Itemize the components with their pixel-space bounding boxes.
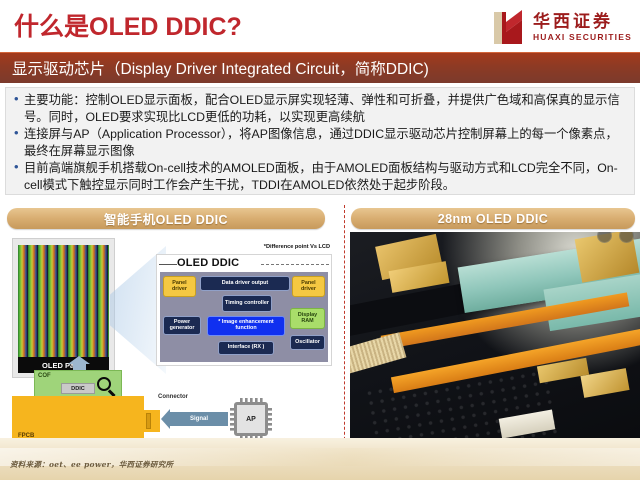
- photo-control-buttons[interactable]: [597, 232, 634, 243]
- signal-arrow: Signal: [170, 412, 228, 426]
- source-note: 资料来源：oet、ee power，华西证券研究所: [10, 459, 173, 470]
- bullet-list: 主要功能：控制OLED显示面板，配合OLED显示屏实现轻薄、弹性和可折叠，并提供…: [5, 87, 635, 195]
- block-interface-rx: Interface (RX ): [218, 341, 274, 355]
- caption-left: 智能手机OLED DDIC: [7, 208, 325, 229]
- fpcb-board: FPCB: [12, 396, 144, 443]
- oled-panel-image: OLED Panel: [12, 238, 115, 378]
- photo-control-button-1[interactable]: [597, 232, 612, 243]
- connector-label: Connector: [158, 394, 188, 400]
- title-row: 什么是OLED DDIC? 华西证券 HUAXI SECURITIES: [0, 0, 640, 52]
- section-banner-text: 显示驱动芯片（Display Driver Integrated Circuit…: [0, 57, 429, 79]
- photo-control-button-2[interactable]: [619, 232, 634, 243]
- logo-name-en: HUAXI SECURITIES: [533, 32, 632, 43]
- caption-right: 28nm OLED DDIC: [351, 208, 635, 229]
- ddic-photo: 显示世界: [350, 232, 640, 464]
- cof-label: COF: [38, 373, 51, 379]
- ddic-diagram-note: *Difference point Vs LCD: [264, 244, 330, 250]
- huaxi-logo-mark-icon: [492, 8, 526, 46]
- connector-slot: [146, 413, 151, 429]
- brand-logo: 华西证券 HUAXI SECURITIES: [492, 8, 632, 46]
- bullet-item: 连接屏与AP（Application Processor），将AP图像信息，通过…: [12, 126, 628, 159]
- block-image-enhancement: * Image enhancement function: [207, 316, 285, 336]
- block-panel-driver-left: Panel driver: [163, 276, 196, 297]
- ddic-inner-area: Panel driver Panel driver Data driver ou…: [160, 272, 328, 362]
- slide-root: 什么是OLED DDIC? 华西证券 HUAXI SECURITIES 显示驱动…: [0, 0, 640, 480]
- column-divider: [344, 205, 345, 460]
- ddic-diagram-title: OLED DDIC: [177, 257, 239, 269]
- block-timing-controller: Timing controller: [222, 295, 272, 312]
- title-rule-left: [159, 264, 177, 265]
- magnifier-icon: [97, 377, 117, 397]
- left-diagram-panel: OLED Panel OLED DDIC *Difference point V…: [6, 234, 336, 449]
- section-banner: 显示驱动芯片（Display Driver Integrated Circuit…: [0, 52, 640, 83]
- block-panel-driver-right: Panel driver: [292, 276, 325, 297]
- ddic-block-diagram: OLED DDIC *Difference point Vs LCD Panel…: [156, 254, 332, 366]
- ddic-chip-label: DDIC: [61, 383, 95, 394]
- logo-text: 华西证券 HUAXI SECURITIES: [533, 12, 632, 43]
- logo-name-cn: 华西证券: [533, 12, 613, 32]
- bullet-item: 目前高端旗舰手机搭载On-cell技术的AMOLED面板，由于AMOLED面板结…: [12, 160, 628, 193]
- block-display-ram: Display RAM: [290, 308, 325, 329]
- caption-right-text: 28nm OLED DDIC: [438, 212, 548, 226]
- block-data-driver-output: Data driver output: [200, 276, 290, 291]
- ap-chip: AP: [234, 402, 268, 436]
- page-title: 什么是OLED DDIC?: [14, 7, 242, 43]
- bullet-item: 主要功能：控制OLED显示面板，配合OLED显示屏实现轻薄、弹性和可折叠，并提供…: [12, 92, 628, 125]
- caption-left-text: 智能手机OLED DDIC: [104, 209, 228, 228]
- block-power-generator: Power generator: [163, 316, 201, 335]
- title-rule-right: [261, 264, 329, 265]
- block-oscillator: Oscillator: [290, 335, 325, 350]
- pixel-grid-graphic: [18, 245, 109, 357]
